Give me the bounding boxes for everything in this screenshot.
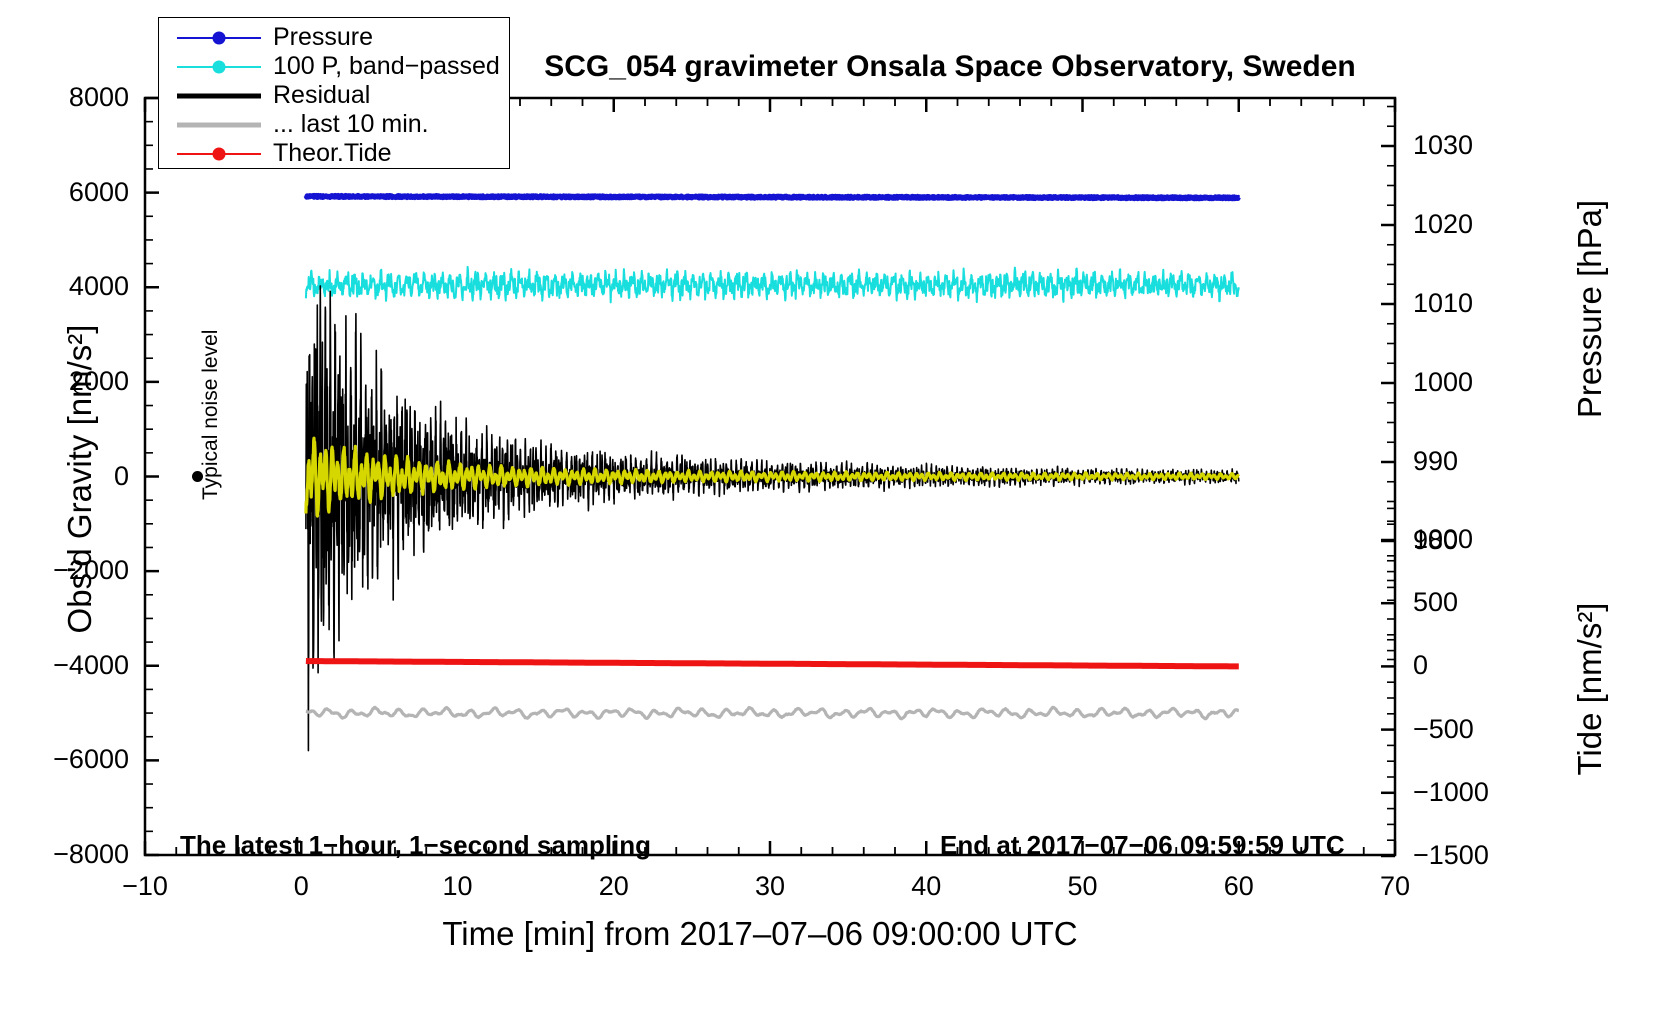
tick-label: 50 — [1053, 871, 1113, 902]
end-time-note: End at 2017−07−06 09:59:59 UTC — [940, 830, 1345, 861]
legend-swatch-icon — [177, 86, 261, 106]
tick-label: −10 — [115, 871, 175, 902]
legend-item: ... last 10 min. — [159, 110, 509, 139]
tick-label: 0 — [114, 461, 129, 492]
series-pressure — [306, 195, 1239, 198]
series-band-passed — [306, 267, 1239, 303]
tick-label: 0 — [271, 871, 331, 902]
gravimeter-chart: SCG_054 gravimeter Onsala Space Observat… — [0, 0, 1660, 1020]
legend-item-label: 100 P, band−passed — [273, 52, 500, 81]
tick-label: 1000 — [1413, 524, 1473, 555]
tick-label: 500 — [1413, 587, 1458, 618]
series-theor-tide — [306, 661, 1239, 666]
sampling-note: The latest 1−hour, 1−second sampling — [180, 830, 651, 861]
x-axis-title: Time [min] from 2017–07–06 09:00:00 UTC — [430, 915, 1090, 953]
tick-label: 40 — [896, 871, 956, 902]
legend-item-label: Residual — [273, 81, 370, 110]
tick-label: 0 — [1413, 650, 1428, 681]
legend-marker-dot — [213, 60, 226, 73]
tick-label: 1030 — [1413, 130, 1473, 161]
tick-label: 20 — [584, 871, 644, 902]
legend-marker-dot — [213, 31, 226, 44]
tick-label: −6000 — [53, 744, 129, 775]
series-last-10-min — [306, 707, 1239, 719]
tick-label: 10 — [428, 871, 488, 902]
tick-label: 30 — [740, 871, 800, 902]
legend-item-label: Pressure — [273, 23, 373, 52]
tick-label: 1010 — [1413, 288, 1473, 319]
legend-item-label: Theor.Tide — [273, 139, 392, 168]
tick-label: −500 — [1413, 714, 1474, 745]
tick-label: −1500 — [1413, 840, 1489, 871]
y-axis-tide-title: Tide [nm/s²] — [1571, 539, 1609, 839]
legend-marker-dot — [213, 147, 226, 160]
y-axis-left-title: Obs'd Gravity [nm/s²] — [61, 269, 99, 689]
chart-legend: Pressure100 P, band−passedResidual... la… — [158, 17, 510, 169]
series-layer — [306, 195, 1239, 750]
legend-swatch-icon — [177, 144, 261, 164]
tick-label: 1000 — [1413, 367, 1473, 398]
legend-item: Pressure — [159, 23, 509, 52]
tick-label: 70 — [1365, 871, 1425, 902]
tick-label: −8000 — [53, 839, 129, 870]
tick-label: 6000 — [69, 177, 129, 208]
noise-level-marker — [192, 471, 203, 482]
legend-swatch-icon — [177, 115, 261, 135]
tick-label: 990 — [1413, 446, 1458, 477]
y-axis-pressure-title: Pressure [hPa] — [1571, 149, 1609, 469]
tick-label: 60 — [1209, 871, 1269, 902]
legend-swatch-icon — [177, 57, 261, 77]
legend-item: Residual — [159, 81, 509, 110]
tick-label: 1020 — [1413, 209, 1473, 240]
legend-item-label: ... last 10 min. — [273, 110, 429, 139]
legend-item: 100 P, band−passed — [159, 52, 509, 81]
tick-label: 8000 — [69, 82, 129, 113]
legend-item: Theor.Tide — [159, 139, 509, 168]
tick-label: −1000 — [1413, 777, 1489, 808]
legend-swatch-icon — [177, 28, 261, 48]
series-residual — [306, 286, 1239, 751]
